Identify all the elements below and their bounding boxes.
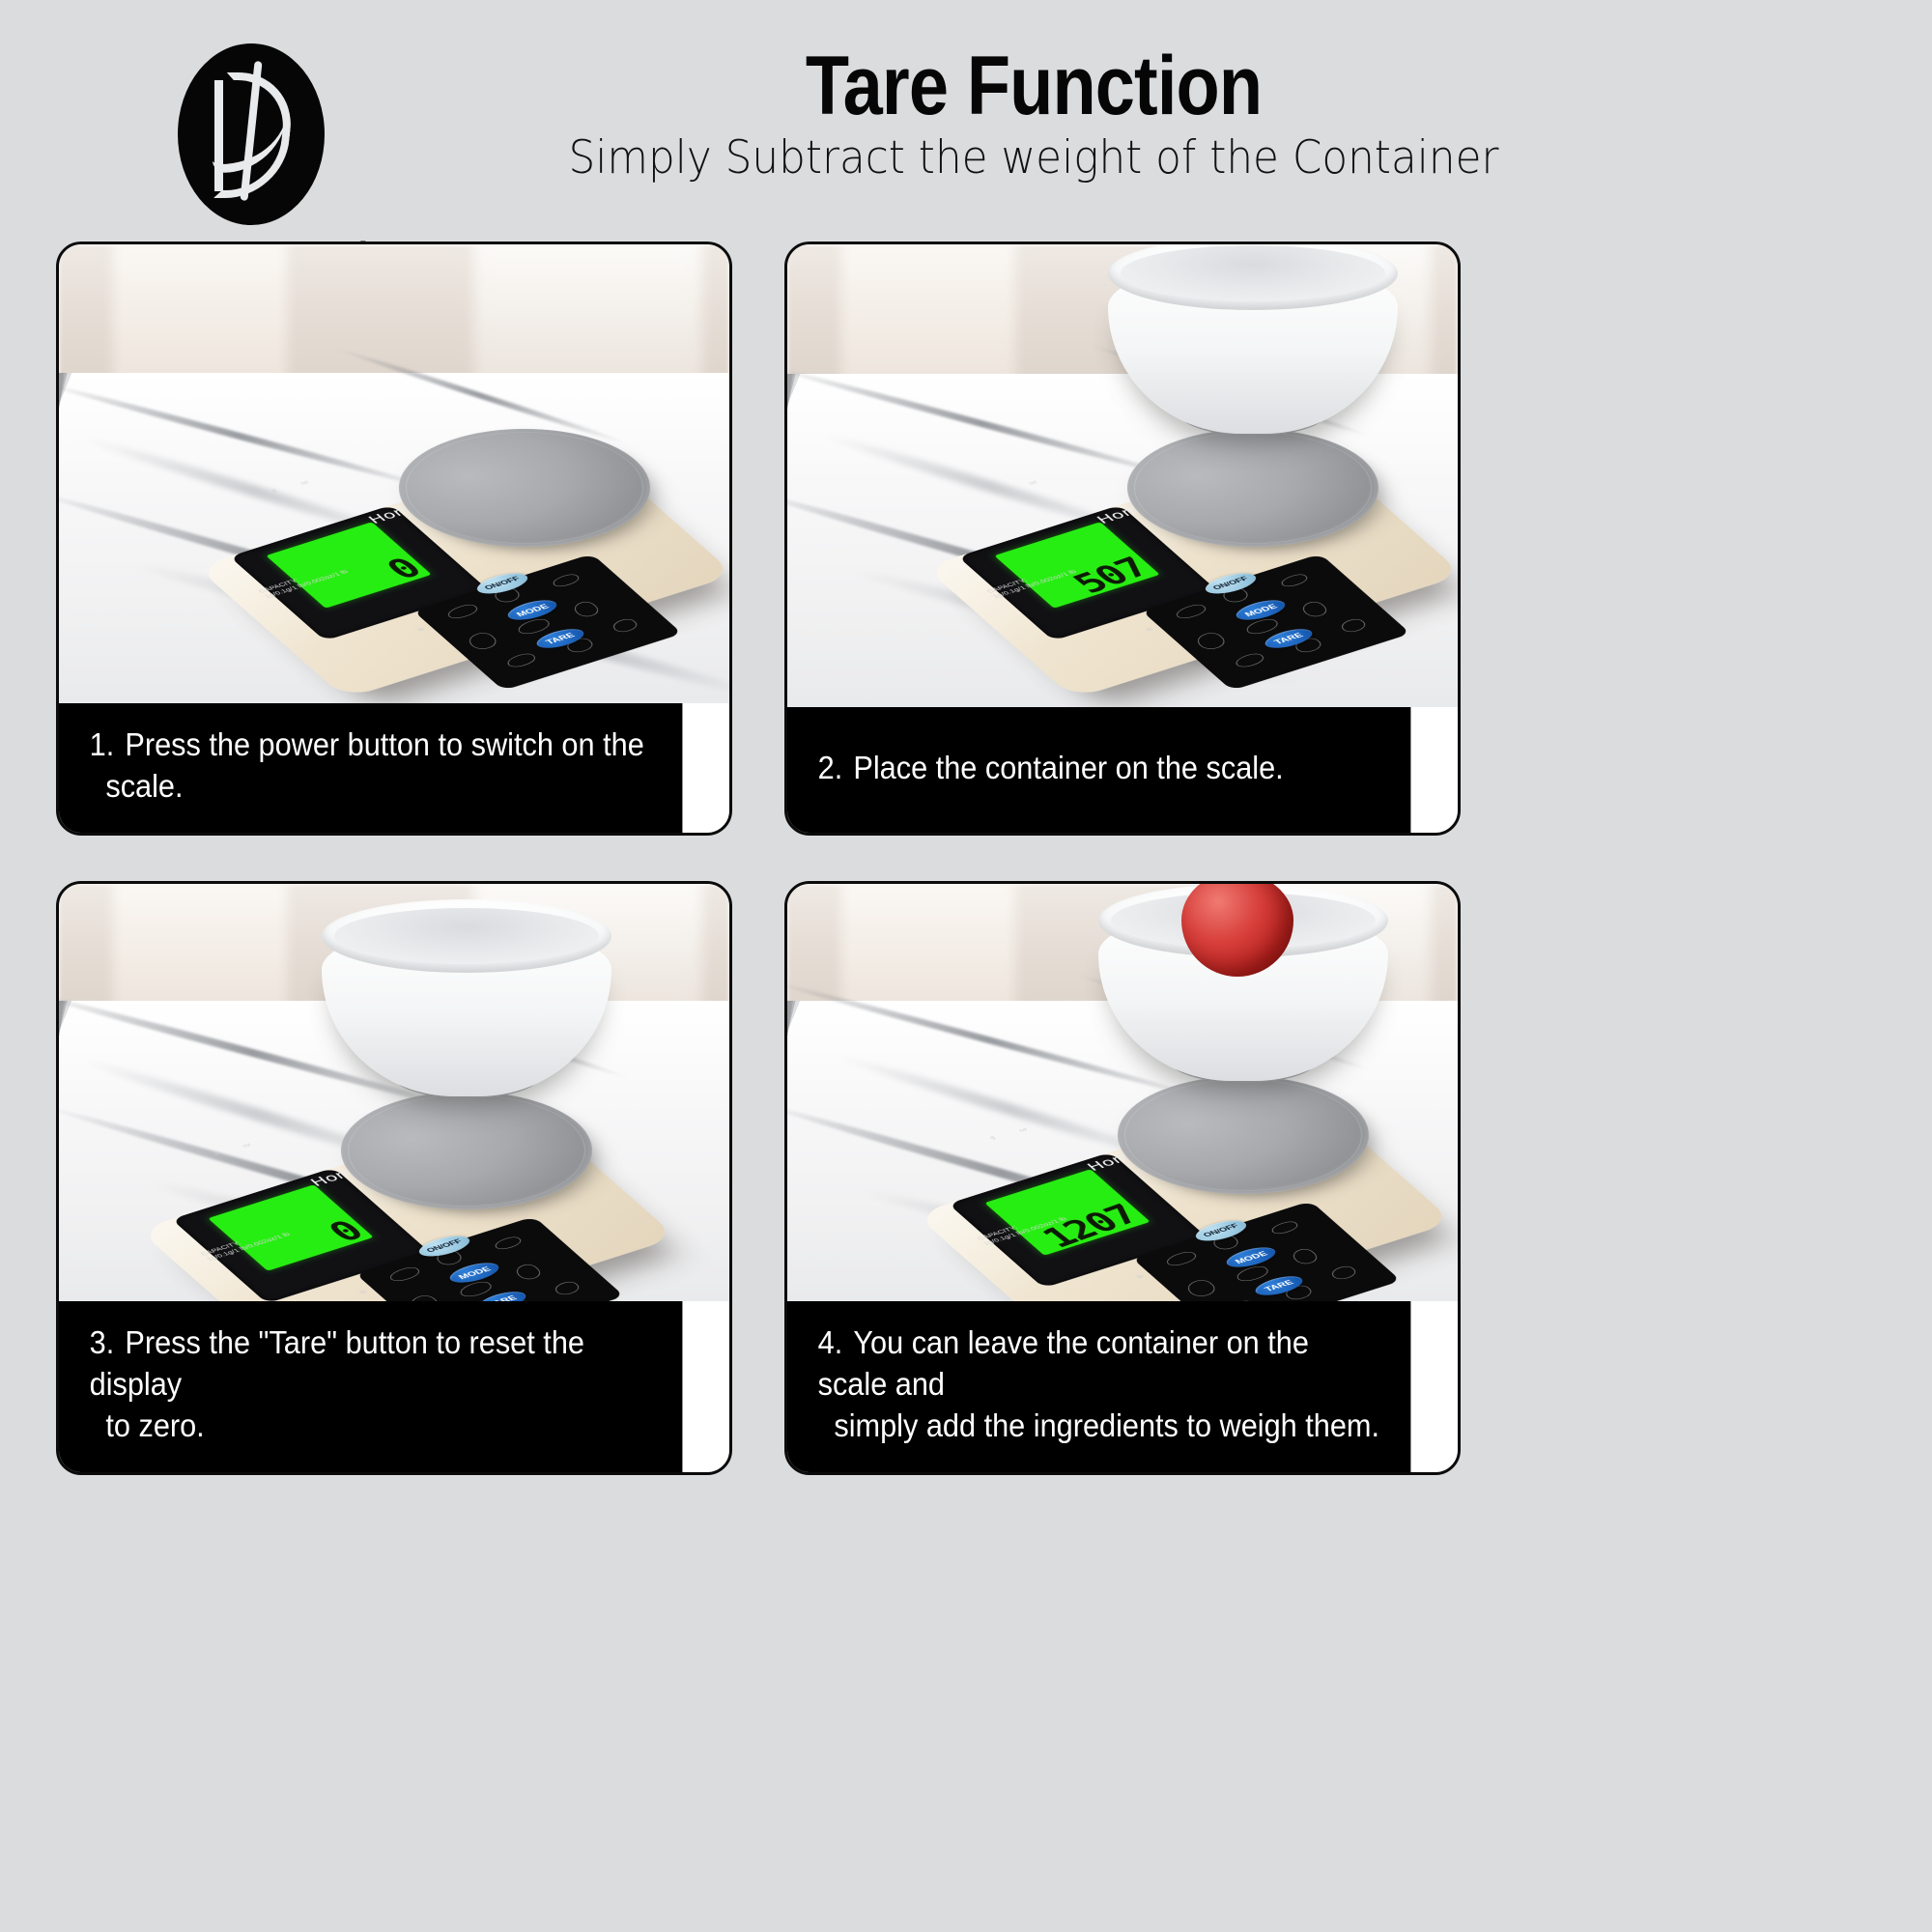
step-number-1: 1. [90, 724, 115, 766]
step-caption-1: 1.Press the power button to switch on th… [59, 703, 682, 833]
step-caption-4: 4.You can leave the container on the sca… [787, 1301, 1410, 1472]
step-number-3: 3. [90, 1322, 115, 1364]
kitchen-scale-4: 1207 HomeBasic CAPACITY: 1g/0.1g/1 lb/0.… [957, 1073, 1411, 1301]
step-number-4: 4. [818, 1322, 843, 1364]
step-panel-1: 0 HomeBasic CAPACITY: 1g/0.1g/1 lb/0.002… [56, 241, 732, 836]
kitchen-scale-2: 507 HomeBasic CAPACITY: 1g/0.1g/1 lb/0.0… [967, 426, 1421, 707]
caption-line2-3: to zero. [90, 1406, 656, 1447]
kitchen-scale-1: 0 HomeBasic CAPACITY: 1g/0.1g/1 lb/0.002… [239, 426, 693, 703]
steps-grid: 0 HomeBasic CAPACITY: 1g/0.1g/1 lb/0.002… [0, 0, 1932, 1932]
mixing-bowl-2 [1108, 244, 1398, 449]
unit-oz-4: oz [1017, 1126, 1029, 1132]
step-panel-4: 1207 HomeBasic CAPACITY: 1g/0.1g/1 lb/0.… [784, 881, 1461, 1475]
caption-line1-2: Place the container on the scale. [853, 750, 1283, 785]
unit-g-4: g [988, 1135, 996, 1140]
unit-oz-2: oz [1027, 479, 1038, 485]
unit-oz-3: oz [241, 1142, 252, 1148]
unit-oz-1: oz [298, 479, 310, 485]
step-caption-2: 2.Place the container on the scale. [787, 707, 1410, 833]
caption-line1-4: You can leave the container on the scale… [818, 1324, 1309, 1402]
mixing-bowl-3 [322, 899, 611, 1112]
unit-g-1: g [270, 488, 277, 493]
kitchen-scale-3: 0 HomeBasic CAPACITY: 1g/0.1g/1 lb/0.002… [181, 1089, 635, 1301]
unit-g-3: g [212, 1151, 219, 1155]
product-photo-3: 0 HomeBasic CAPACITY: 1g/0.1g/1 lb/0.002… [59, 884, 729, 1301]
step-number-2: 2. [818, 748, 843, 789]
caption-line2-4: simply add the ingredients to weigh them… [818, 1406, 1384, 1447]
product-photo-1: 0 HomeBasic CAPACITY: 1g/0.1g/1 lb/0.002… [59, 244, 729, 703]
step-caption-3: 3.Press the "Tare" button to reset the d… [59, 1301, 682, 1472]
apple-ingredient [1181, 884, 1293, 977]
step-panel-3: 0 HomeBasic CAPACITY: 1g/0.1g/1 lb/0.002… [56, 881, 732, 1475]
step-panel-2: 507 HomeBasic CAPACITY: 1g/0.1g/1 lb/0.0… [784, 241, 1461, 836]
unit-g-2: g [998, 488, 1006, 493]
caption-line2-1: scale. [90, 766, 644, 808]
caption-line1-1: Press the power button to switch on the [125, 726, 643, 762]
caption-line1-3: Press the "Tare" button to reset the dis… [90, 1324, 584, 1402]
mixing-bowl-4 [1098, 884, 1388, 1096]
product-photo-4: 1207 HomeBasic CAPACITY: 1g/0.1g/1 lb/0.… [787, 884, 1458, 1301]
product-photo-2: 507 HomeBasic CAPACITY: 1g/0.1g/1 lb/0.0… [787, 244, 1458, 707]
